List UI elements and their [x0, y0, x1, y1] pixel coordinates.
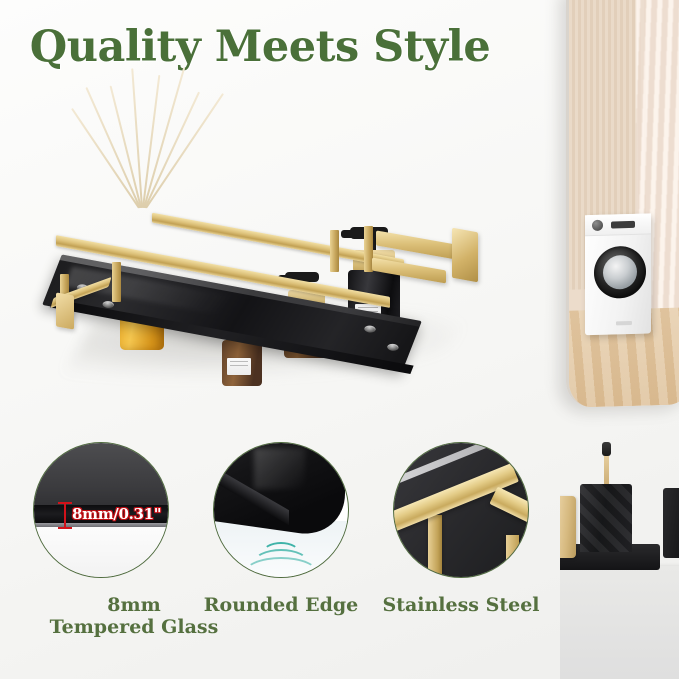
reed-stick: [85, 87, 141, 208]
gold-post: [112, 262, 121, 302]
feature-circle-image: [393, 442, 529, 578]
gold-post: [330, 230, 339, 272]
bottle-label: [227, 358, 251, 375]
washer-door: [594, 246, 646, 299]
glass-top-face: [33, 443, 169, 507]
wall-bracket-plate: [56, 292, 74, 329]
feature-stainless-steel: Stainless Steel: [393, 442, 529, 578]
thickness-callout: 8mm/0.31": [72, 505, 161, 523]
wooden-roll: [560, 496, 576, 558]
mounting-hole: [386, 343, 400, 352]
feature-circle-image: [213, 442, 349, 578]
counter-top: [560, 566, 679, 679]
corner-gloss: [254, 448, 305, 488]
washer-logo: [616, 321, 632, 325]
vanity-inset-photo: [560, 440, 679, 679]
white-background: [33, 527, 169, 578]
reed-stick: [143, 67, 185, 208]
gold-post: [428, 515, 442, 578]
feature-rounded-edge: Rounded Edge: [213, 442, 349, 578]
wall-bracket-plate: [452, 228, 478, 283]
hero-product: [34, 118, 504, 418]
product-marketing-image: Quality Meets Style: [0, 0, 679, 679]
feature-label-stainless-steel: Stainless Steel: [346, 594, 576, 616]
pump-jar: [222, 340, 262, 386]
washing-machine: [585, 213, 651, 335]
feature-tempered-glass: 8mm/0.31" 8mm Tempered Glass: [33, 442, 169, 578]
feature-label-line1: Stainless Steel: [346, 594, 576, 616]
reed-stick: [145, 93, 224, 209]
reed-stick: [131, 68, 143, 208]
dark-accessory: [663, 488, 679, 558]
mirror-inset-photo: [566, 0, 679, 408]
page-title: Quality Meets Style: [0, 22, 520, 72]
feature-circle-image: 8mm/0.31": [33, 442, 169, 578]
toothbrush-cup: [580, 484, 632, 552]
washer-display: [611, 221, 635, 229]
dimension-marker-icon: [64, 502, 66, 529]
mounting-hole: [363, 325, 377, 334]
feature-label-line2: Tempered Glass: [19, 616, 249, 638]
gold-post: [506, 535, 519, 578]
